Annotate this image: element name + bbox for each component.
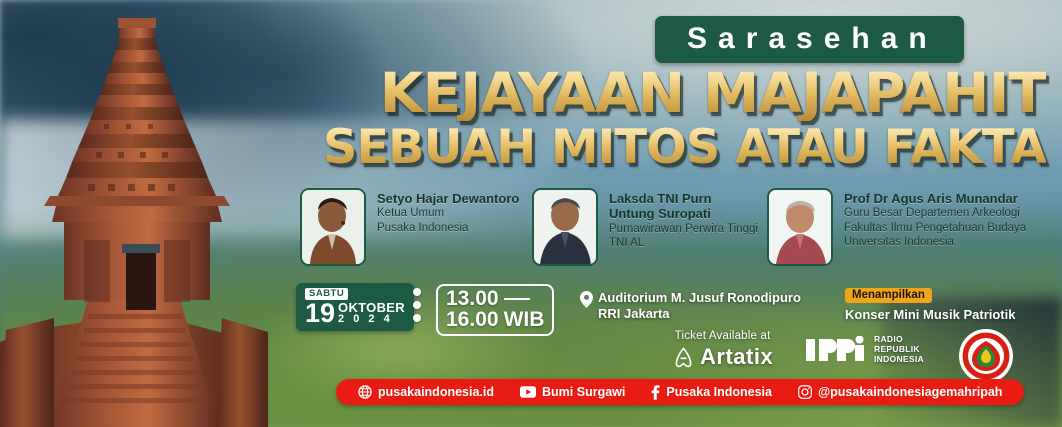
rri-line-3: INDONESIA bbox=[874, 354, 924, 364]
speaker-text: Laksda TNI Purn Untung Suropati Purnawir… bbox=[609, 188, 758, 266]
pusaka-indonesia-logo bbox=[958, 328, 1014, 384]
facebook-icon bbox=[651, 385, 660, 400]
social-media-bar: pusakaindonesia.id Bumi Surgawi Pusaka I… bbox=[336, 379, 1024, 405]
time-end: 16.00 bbox=[446, 309, 499, 330]
globe-icon bbox=[358, 385, 372, 399]
separator-dot bbox=[413, 314, 421, 322]
venue-text: Auditorium M. Jusuf Ronodipuro RRI Jakar… bbox=[598, 290, 801, 323]
social-item-facebook[interactable]: Pusaka Indonesia bbox=[651, 385, 772, 400]
event-time-box: 13.00 16.00 WIB bbox=[436, 284, 554, 336]
rri-line-1: RADIO bbox=[874, 334, 924, 344]
speaker-photo-agus-aris-munandar bbox=[767, 188, 833, 266]
social-item-youtube[interactable]: Bumi Surgawi bbox=[520, 385, 625, 399]
event-venue: Auditorium M. Jusuf Ronodipuro RRI Jakar… bbox=[580, 290, 801, 323]
youtube-icon bbox=[520, 386, 536, 398]
majapahit-temple-illustration bbox=[0, 0, 292, 427]
ticket-brand-name: Artatix bbox=[700, 344, 773, 370]
social-handle: Bumi Surgawi bbox=[542, 385, 625, 399]
social-item-instagram[interactable]: @pusakaindonesiagemahripah bbox=[798, 385, 1002, 399]
venue-line-2: RRI Jakarta bbox=[598, 306, 801, 322]
time-start-row: 13.00 bbox=[446, 288, 544, 309]
speaker-name-2: Untung Suropati bbox=[609, 206, 758, 221]
speaker-card: Prof Dr Agus Aris Munandar Guru Besar De… bbox=[767, 188, 1026, 266]
speaker-name: Setyo Hajar Dewantoro bbox=[377, 191, 519, 206]
speaker-list: Setyo Hajar Dewantoro Ketua Umum Pusaka … bbox=[300, 188, 1052, 272]
speaker-role-2: Fakultas Ilmu Pengetahuan Budaya bbox=[844, 221, 1026, 235]
ticket-brand: Artatix bbox=[672, 344, 773, 370]
speaker-role-1: Ketua Umum bbox=[377, 206, 519, 220]
sarasehan-label: Sarasehan bbox=[681, 24, 938, 54]
separator-dot bbox=[413, 288, 421, 296]
rri-logo: RADIO REPUBLIK INDONESIA bbox=[806, 334, 924, 364]
date-main: 19 OKTOBER 2 0 2 4 bbox=[305, 301, 405, 325]
instagram-icon bbox=[798, 385, 812, 399]
speaker-name: Laksda TNI Purn bbox=[609, 191, 758, 206]
speaker-role-2: Pusaka Indonesia bbox=[377, 221, 519, 235]
rri-line-2: REPUBLIK bbox=[874, 344, 924, 354]
social-handle: pusakaindonesia.id bbox=[378, 385, 494, 399]
speaker-role-2: TNI AL bbox=[609, 236, 758, 250]
location-pin-icon bbox=[580, 291, 593, 308]
dot-separator bbox=[413, 288, 421, 322]
event-banner: Sarasehan KEJAYAAN MAJAPAHIT SEBUAH MITO… bbox=[0, 0, 1062, 427]
rri-wordmark: RADIO REPUBLIK INDONESIA bbox=[874, 334, 924, 364]
time-start: 13.00 bbox=[446, 288, 499, 309]
social-handle: @pusakaindonesiagemahripah bbox=[818, 385, 1002, 399]
sarasehan-pill: Sarasehan bbox=[655, 16, 964, 63]
speaker-card: Laksda TNI Purn Untung Suropati Purnawir… bbox=[532, 188, 758, 266]
social-handle: Pusaka Indonesia bbox=[666, 385, 772, 399]
speaker-role-3: Universitas Indonesia bbox=[844, 235, 1026, 249]
speaker-photo-untung-suropati bbox=[532, 188, 598, 266]
time-dash-icon bbox=[504, 298, 530, 300]
feature-badge: Menampilkan bbox=[845, 288, 932, 303]
separator-dot bbox=[413, 301, 421, 309]
speaker-name: Prof Dr Agus Aris Munandar bbox=[844, 191, 1026, 206]
date-day: 19 bbox=[305, 302, 335, 325]
event-date-badge: SABTU 19 OKTOBER 2 0 2 4 bbox=[296, 283, 414, 331]
ticket-block[interactable]: Ticket Available at Artatix bbox=[672, 330, 773, 370]
speaker-card: Setyo Hajar Dewantoro Ketua Umum Pusaka … bbox=[300, 188, 519, 266]
time-end-row: 16.00 WIB bbox=[446, 309, 544, 330]
artatix-logo-icon bbox=[672, 346, 695, 369]
rri-mark-icon bbox=[806, 336, 868, 362]
speaker-role-1: Purnawirawan Perwira Tinggi bbox=[609, 222, 758, 236]
speaker-role-1: Guru Besar Departemen Arkeologi bbox=[844, 206, 1026, 220]
feature-block: Menampilkan Konser Mini Musik Patriotik bbox=[845, 285, 1015, 322]
date-month-year: OKTOBER 2 0 2 4 bbox=[338, 301, 405, 325]
speaker-photo-setyo-hajar-dewantoro bbox=[300, 188, 366, 266]
social-item-website[interactable]: pusakaindonesia.id bbox=[358, 385, 494, 399]
speaker-text: Setyo Hajar Dewantoro Ketua Umum Pusaka … bbox=[377, 188, 519, 266]
time-zone: WIB bbox=[504, 309, 545, 330]
event-title-line-1: KEJAYAAN MAJAPAHIT bbox=[380, 66, 1046, 121]
venue-line-1: Auditorium M. Jusuf Ronodipuro bbox=[598, 290, 801, 306]
date-year: 2 0 2 4 bbox=[338, 314, 405, 325]
feature-text: Konser Mini Musik Patriotik bbox=[845, 307, 1015, 322]
speaker-text: Prof Dr Agus Aris Munandar Guru Besar De… bbox=[844, 188, 1026, 266]
event-title-line-2: SEBUAH MITOS ATAU FAKTA bbox=[323, 124, 1046, 171]
ticket-label: Ticket Available at bbox=[672, 330, 773, 342]
